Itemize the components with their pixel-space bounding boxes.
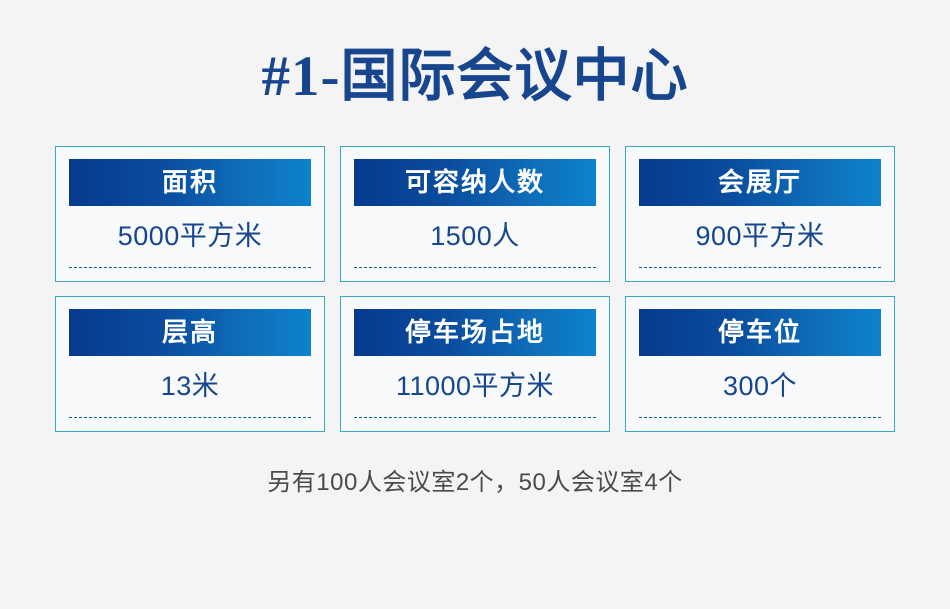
stat-card-capacity: 可容纳人数 1500人 [340, 146, 610, 282]
stat-card-label: 停车位 [718, 319, 802, 345]
stat-card-value-wrap: 1500人 [354, 206, 596, 267]
stat-card-divider [639, 267, 881, 268]
stats-grid: 面积 5000平方米 可容纳人数 1500人 会展厅 [55, 146, 895, 432]
stat-card-area: 面积 5000平方米 [55, 146, 325, 282]
stat-card-parking-spaces: 停车位 300个 [625, 296, 895, 432]
stats-row: 面积 5000平方米 可容纳人数 1500人 会展厅 [55, 146, 895, 282]
stat-card-label: 停车场占地 [405, 319, 545, 345]
stat-card-value: 300个 [723, 373, 797, 400]
stat-card-parking-area: 停车场占地 11000平方米 [340, 296, 610, 432]
stat-card-divider [69, 417, 311, 418]
stat-card-value: 900平方米 [695, 223, 824, 250]
title-section: #1-国际会议中心 [0, 44, 950, 110]
stat-card-label: 可容纳人数 [405, 169, 545, 195]
stat-card-value: 5000平方米 [118, 223, 263, 250]
stats-row: 层高 13米 停车场占地 11000平方米 停车位 [55, 296, 895, 432]
venue-spec-page: #1-国际会议中心 面积 5000平方米 可容纳人数 1500人 [0, 0, 950, 609]
stat-card-exhibition-hall: 会展厅 900平方米 [625, 146, 895, 282]
stat-card-header: 会展厅 [639, 159, 881, 206]
stat-card-value: 11000平方米 [396, 373, 554, 400]
stat-card-label: 面积 [162, 169, 218, 195]
stat-card-header: 停车场占地 [354, 309, 596, 356]
stat-card-header: 面积 [69, 159, 311, 206]
stat-card-header: 停车位 [639, 309, 881, 356]
footer-note: 另有100人会议室2个，50人会议室4个 [267, 462, 682, 497]
stat-card-value-wrap: 300个 [639, 356, 881, 417]
stat-card-ceiling-height: 层高 13米 [55, 296, 325, 432]
stat-card-divider [639, 417, 881, 418]
stat-card-value-wrap: 900平方米 [639, 206, 881, 267]
stat-card-value: 13米 [161, 373, 220, 400]
stat-card-header: 层高 [69, 309, 311, 356]
stat-card-divider [354, 417, 596, 418]
stat-card-value-wrap: 13米 [69, 356, 311, 417]
stat-card-label: 会展厅 [718, 169, 802, 195]
stat-card-divider [69, 267, 311, 268]
stat-card-value-wrap: 5000平方米 [69, 206, 311, 267]
stat-card-header: 可容纳人数 [354, 159, 596, 206]
stat-card-label: 层高 [162, 319, 218, 345]
stat-card-divider [354, 267, 596, 268]
stat-card-value-wrap: 11000平方米 [354, 356, 596, 417]
stat-card-value: 1500人 [430, 223, 520, 250]
page-title: #1-国际会议中心 [0, 44, 950, 110]
